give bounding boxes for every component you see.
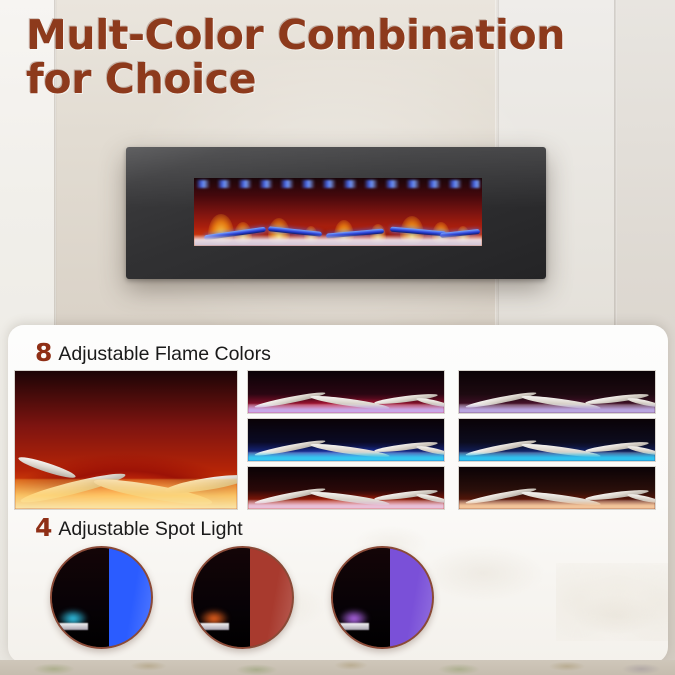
spot-count: 4 <box>35 513 52 542</box>
flame-color-thumbnail[interactable] <box>247 466 445 510</box>
flame-color-thumbnail[interactable] <box>458 466 656 510</box>
flame-color-thumbnail[interactable] <box>458 418 656 462</box>
card-orb-texture <box>556 563 668 641</box>
flame-color-thumbnail[interactable] <box>247 370 445 414</box>
flame-count: 8 <box>35 338 52 367</box>
fireplace-led-strip <box>196 180 480 188</box>
floor-carpet <box>0 660 675 675</box>
fireplace-crystal-bed <box>194 235 482 246</box>
spot-dark-interior <box>193 548 250 647</box>
spot-color-wash <box>109 548 151 647</box>
flame-color-thumbnail[interactable] <box>247 418 445 462</box>
spot-crystal-bed <box>56 623 88 630</box>
fireplace-flame-window <box>194 178 482 246</box>
product-marketing-image: Mult-Color Combination for Choice 8Adjus… <box>0 0 675 675</box>
spot-color-wash <box>250 548 292 647</box>
spot-light-red[interactable] <box>191 546 294 649</box>
spot-label: Adjustable Spot Light <box>58 518 242 540</box>
thumbnail-crystal-bed <box>248 452 444 461</box>
spot-dark-interior <box>52 548 109 647</box>
flame-color-thumbnail[interactable] <box>458 370 656 414</box>
flame-colors-heading: 8Adjustable Flame Colors <box>35 338 271 367</box>
featured-flame-preview[interactable] <box>14 370 238 510</box>
page-title: Mult-Color Combination for Choice <box>26 14 626 102</box>
flame-label: Adjustable Flame Colors <box>58 343 270 365</box>
spot-light-heading: 4Adjustable Spot Light <box>35 513 243 542</box>
spot-light-blue[interactable] <box>50 546 153 649</box>
fireplace-unit <box>126 147 546 279</box>
headline-line-1: Mult-Color Combination <box>26 11 565 59</box>
thumbnail-crystal-bed <box>459 452 655 461</box>
birch-log <box>17 454 77 481</box>
thumbnail-crystal-bed <box>248 404 444 413</box>
spot-dark-interior <box>333 548 390 647</box>
thumbnail-crystal-bed <box>459 404 655 413</box>
thumbnail-crystal-bed <box>459 500 655 509</box>
spot-crystal-bed <box>197 623 229 630</box>
thumbnail-crystal-bed <box>248 500 444 509</box>
spot-color-wash <box>390 548 432 647</box>
spot-crystal-bed <box>337 623 369 630</box>
headline-line-2: for Choice <box>26 58 626 102</box>
featured-ember-bed <box>15 479 237 509</box>
spot-light-purple[interactable] <box>331 546 434 649</box>
